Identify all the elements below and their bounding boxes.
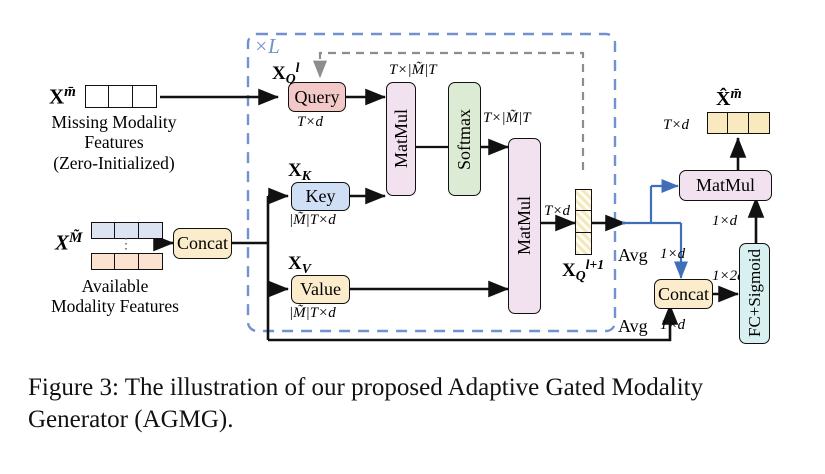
xv-symbol: XV — [288, 253, 311, 277]
xq-next-cell — [575, 210, 592, 233]
softmax-label: Softmax — [454, 109, 475, 170]
available-caption-l2: Modality Features — [30, 296, 200, 316]
matmul-1-label: MatMul — [391, 109, 412, 168]
available-cell-top — [138, 222, 163, 239]
missing-cell — [132, 85, 157, 108]
xq-next-symbol: XQl+1 — [562, 257, 604, 284]
available-feature-cells-bottom — [91, 253, 163, 270]
xq-next-cells — [575, 189, 592, 255]
missing-feature-cells — [85, 85, 157, 108]
gate-dim-label: 1×d — [712, 213, 737, 230]
concat-right-block[interactable]: Concat — [654, 279, 713, 309]
matmul-1-block[interactable]: MatMul — [386, 82, 416, 196]
xq-next-cell — [575, 189, 592, 212]
agmg-diagram: Xm̄ Missing Modality Features (Zero-Init… — [0, 0, 825, 360]
xk-symbol: XK — [288, 160, 311, 184]
avg-top-dim-label: 1×d — [660, 246, 685, 263]
available-cell-bottom — [114, 253, 139, 270]
query-dim-label: T×d — [297, 114, 323, 131]
output-cell — [727, 112, 749, 134]
available-feature-symbol: XM̃ — [55, 230, 82, 256]
figure-caption: Figure 3: The illustration of our propos… — [28, 372, 728, 436]
matmul-2-label: MatMul — [514, 196, 535, 255]
key-dim-label: |M̃|T×d — [289, 212, 336, 229]
available-cell-top — [91, 222, 116, 239]
key-block[interactable]: Key — [291, 182, 350, 211]
available-cell-bottom — [138, 253, 163, 270]
fc-sigmoid-block[interactable]: FC+Sigmoid — [739, 243, 770, 344]
output-cells — [707, 112, 770, 134]
available-caption-l1: Available — [30, 276, 200, 296]
missing-caption-l2: Features — [34, 132, 194, 152]
missing-caption-l3: (Zero-Initialized) — [34, 153, 194, 173]
matmul-out-label: MatMul — [696, 175, 755, 196]
missing-feature-symbol: Xm̄ — [49, 84, 76, 110]
value-label: Value — [300, 279, 341, 300]
fc-sigmoid-label: FC+Sigmoid — [745, 249, 765, 337]
missing-caption-l1: Missing Modality — [34, 112, 194, 132]
attn-dim-mid-label: T×|M̃|T — [483, 110, 531, 127]
figure-root: Xm̄ Missing Modality Features (Zero-Init… — [0, 0, 825, 474]
available-cell-bottom — [91, 253, 116, 270]
avg-bottom-dim-label: 1×d — [660, 317, 685, 334]
attn-dim-top-label: T×|M̃|T — [389, 62, 437, 79]
loop-label: ×L — [254, 34, 280, 59]
output-cell — [707, 112, 729, 134]
out-dim-label: T×d — [663, 117, 689, 134]
available-feature-caption: Available Modality Features — [30, 276, 200, 317]
ctx-dim-label: T×d — [544, 203, 570, 220]
query-label: Query — [295, 87, 340, 108]
matmul-2-block[interactable]: MatMul — [508, 138, 541, 314]
concat-left-block[interactable]: Concat — [173, 228, 232, 259]
output-cell — [748, 112, 770, 134]
value-dim-label: |M̃|T×d — [289, 305, 336, 322]
key-label: Key — [306, 186, 336, 207]
matmul-out-block[interactable]: MatMul — [679, 170, 772, 201]
missing-feature-caption: Missing Modality Features (Zero-Initiali… — [34, 112, 194, 173]
concat-right-label: Concat — [658, 284, 709, 305]
available-vertical-dots: ⋮ — [119, 236, 133, 253]
missing-cell — [85, 85, 110, 108]
avg-bottom-label: Avg — [618, 316, 648, 337]
value-block[interactable]: Value — [291, 275, 350, 304]
xhat-symbol: X̂m̄ — [716, 86, 742, 111]
concat-left-label: Concat — [177, 233, 228, 254]
query-block[interactable]: Query — [288, 82, 346, 112]
softmax-block[interactable]: Softmax — [448, 82, 481, 196]
missing-cell — [108, 85, 133, 108]
xq-next-cell — [575, 232, 592, 255]
avg-top-label: Avg — [618, 245, 648, 266]
